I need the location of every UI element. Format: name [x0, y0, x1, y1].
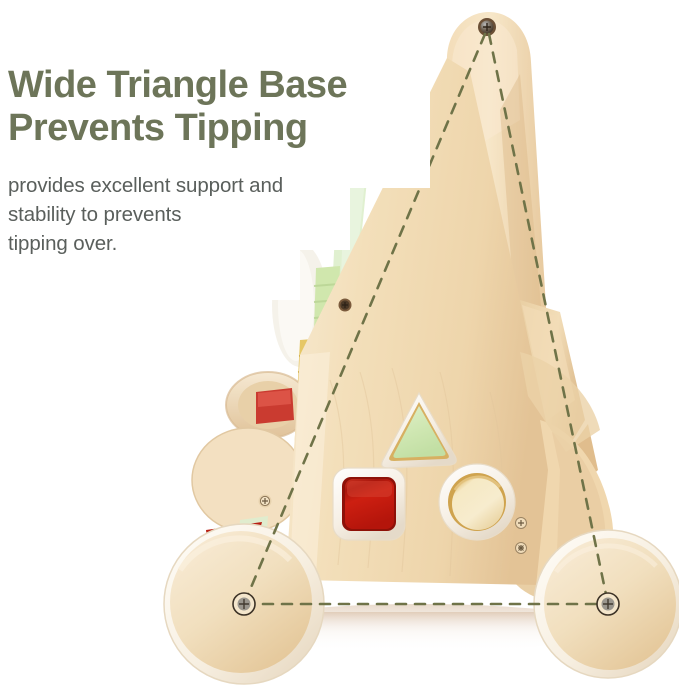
product-feature-banner: Wide Triangle Base Prevents Tipping prov… [0, 0, 679, 688]
feature-description: provides excellent support and stability… [8, 171, 408, 258]
screw-panel-lower [259, 495, 272, 508]
screw-side-upper [516, 518, 527, 529]
headline-line-1: Wide Triangle Base [8, 64, 408, 107]
page-title: Wide Triangle Base Prevents Tipping [8, 64, 408, 149]
headline-line-2: Prevents Tipping [8, 107, 408, 150]
shape-hole-circle [439, 464, 515, 540]
screw-front-wheel-hub [233, 593, 255, 615]
feature-copy: Wide Triangle Base Prevents Tipping prov… [8, 64, 408, 258]
shape-hole-square [333, 468, 405, 540]
screw-panel-upper [339, 299, 352, 312]
body-line-3: tipping over. [8, 229, 408, 258]
body-line-1: provides excellent support and [8, 171, 408, 200]
screw-rear-wheel-hub [597, 593, 619, 615]
screw-apex [478, 18, 496, 36]
body-line-2: stability to prevents [8, 200, 408, 229]
screw-side-lower [516, 543, 527, 554]
